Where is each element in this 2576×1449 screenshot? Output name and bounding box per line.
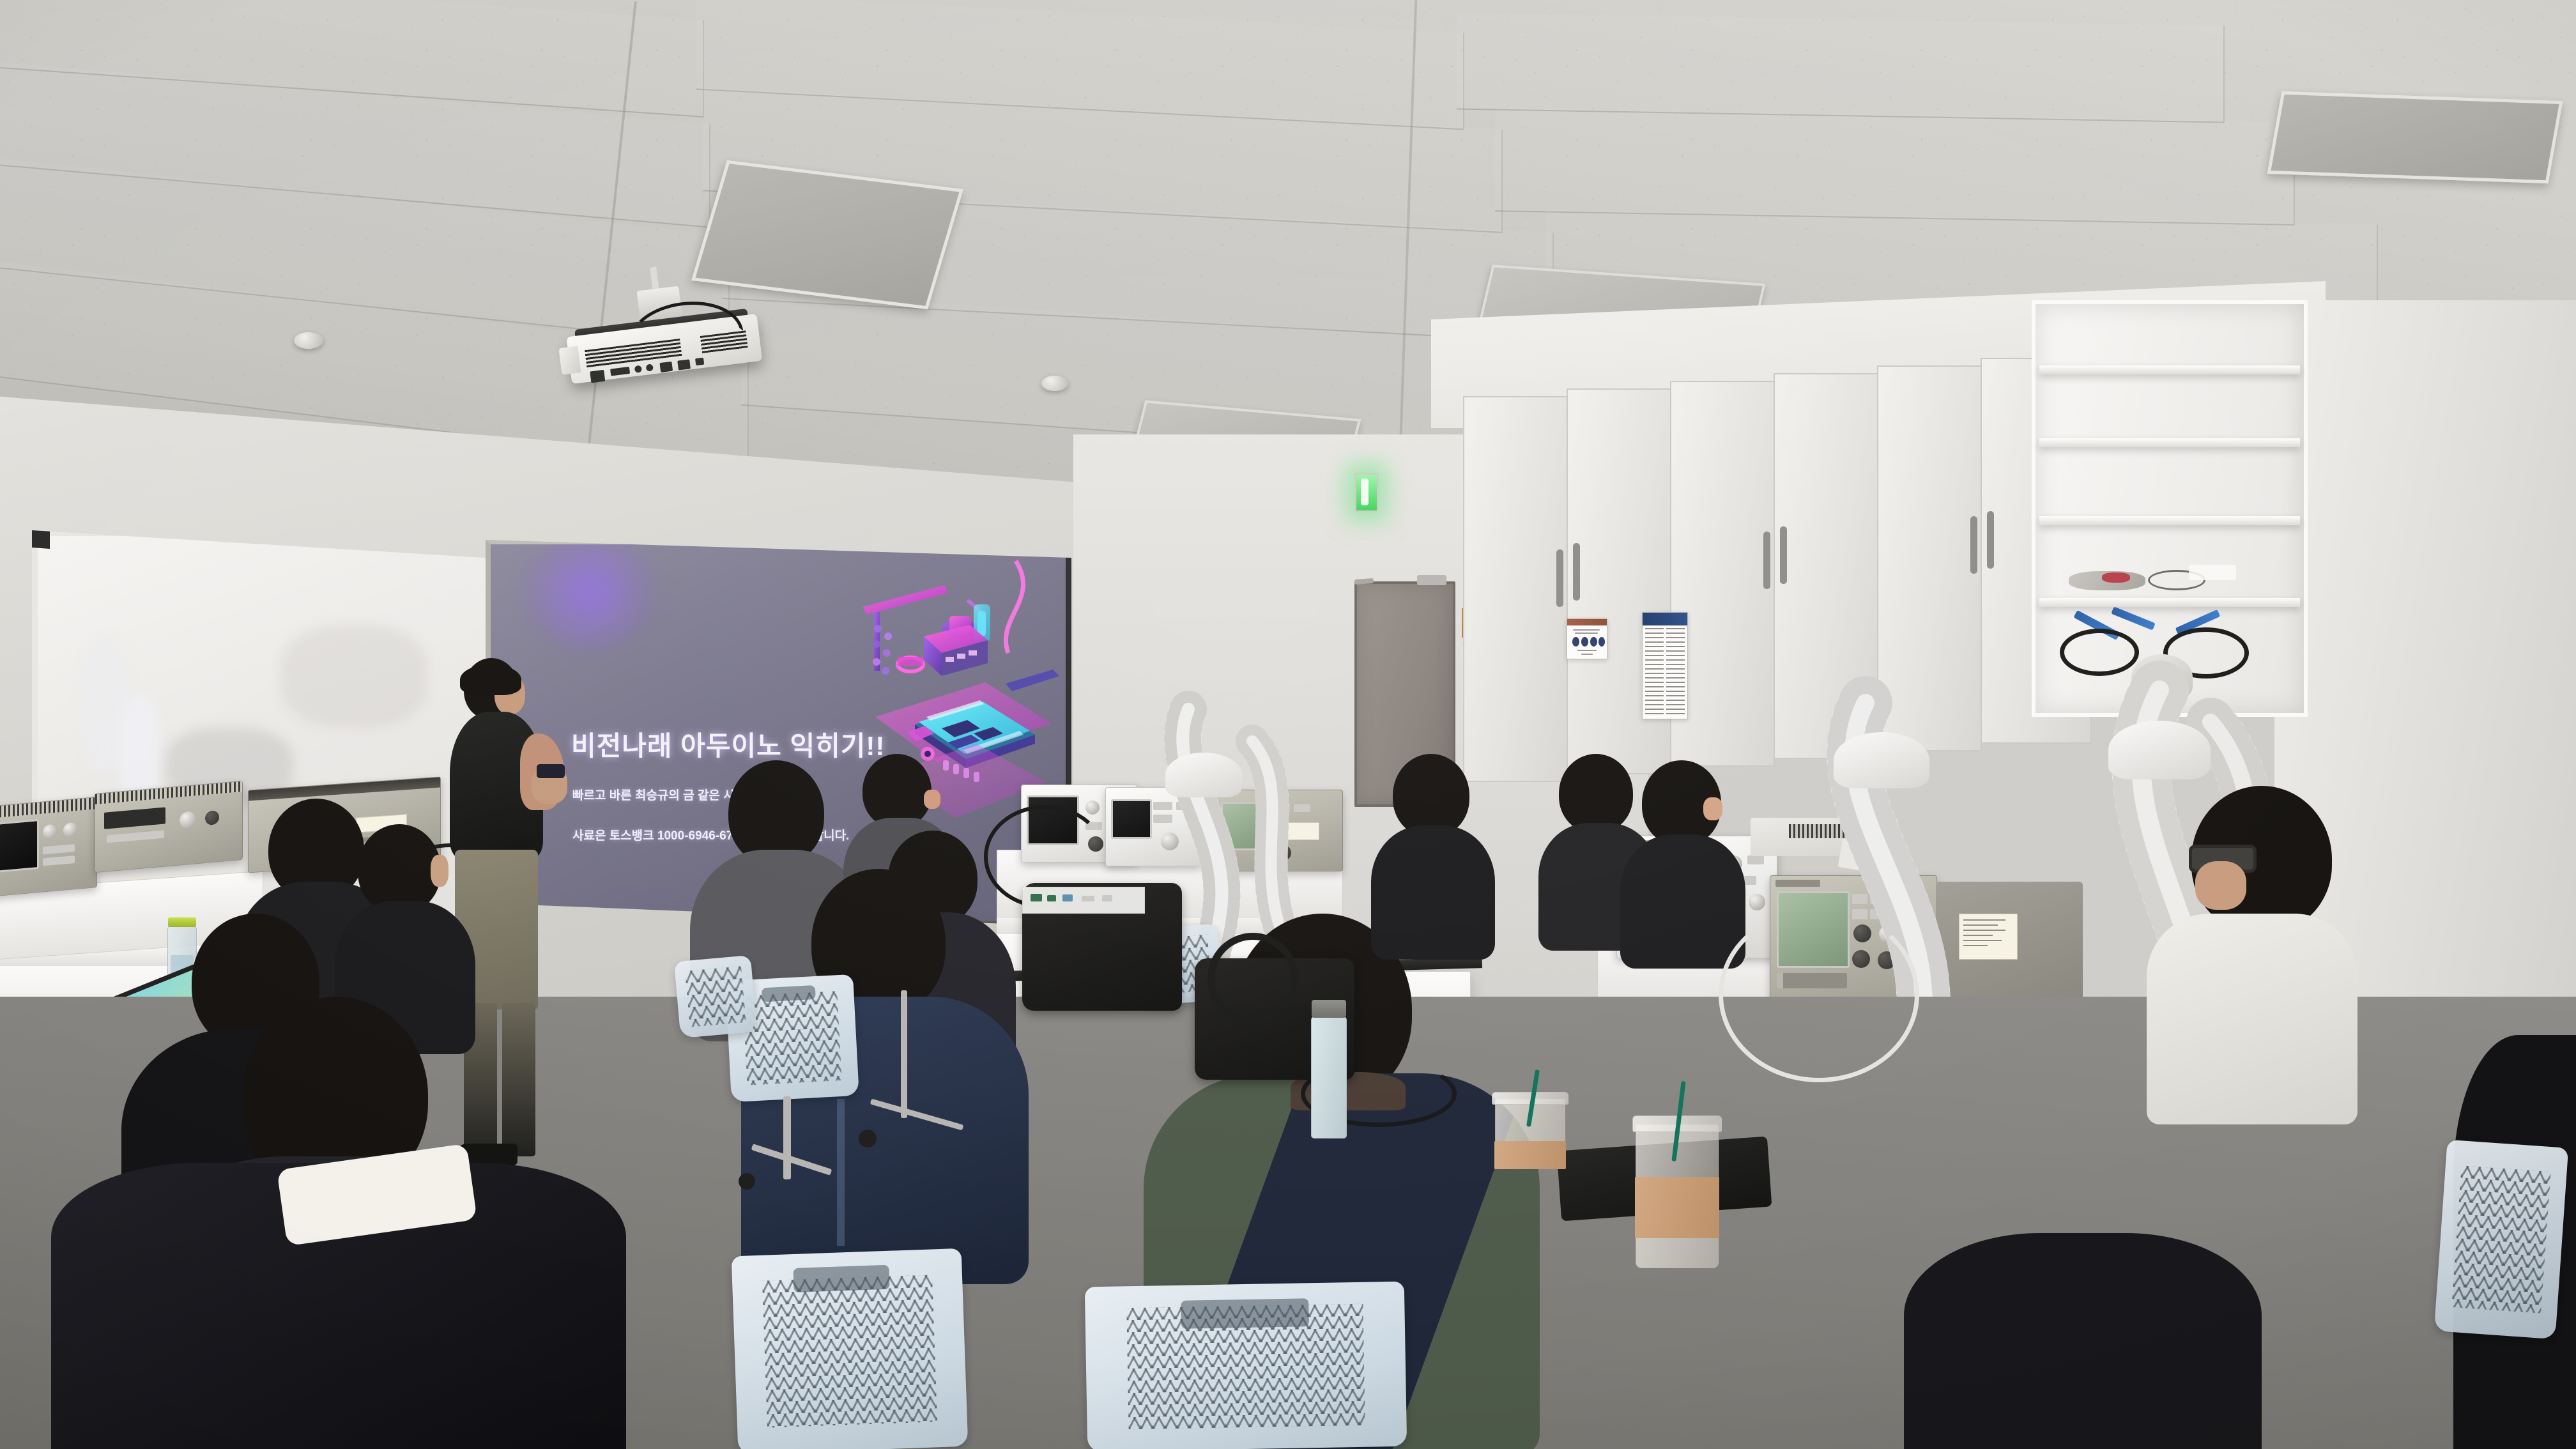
iced-coffee-cup-large[interactable] [1636, 1124, 1719, 1268]
presenter [441, 658, 588, 1188]
soldering-iron-blue[interactable] [2111, 606, 2155, 630]
generator-knob[interactable] [1161, 832, 1179, 850]
fume-hood-funnel [2131, 654, 2193, 700]
safety-warning-poster [1567, 618, 1607, 659]
fume-hood-funnel [1834, 732, 1929, 788]
psu-knob[interactable] [205, 810, 219, 825]
projector-port [677, 359, 691, 370]
projector-port [646, 364, 654, 371]
cabinet-door[interactable] [1877, 365, 1982, 751]
scope-button[interactable] [43, 855, 75, 866]
cup-sleeve [1635, 1177, 1719, 1238]
water-bottle-blue[interactable] [1311, 1016, 1347, 1138]
display-readout [104, 807, 165, 829]
presentation-clicker[interactable] [537, 764, 565, 778]
analyzer-chassis-rear [1936, 882, 2083, 1009]
cabinet-handle[interactable] [1573, 543, 1580, 601]
scope-knob[interactable] [63, 822, 77, 838]
bottle-cap [168, 917, 196, 927]
cup-sleeve [1494, 1141, 1566, 1169]
presenter-leg [502, 1003, 535, 1156]
shelf [2039, 516, 2300, 525]
power-supply-left[interactable] [95, 781, 243, 873]
presenter-hair [460, 664, 521, 695]
power-plug [1838, 839, 1881, 873]
analyzer-knob[interactable] [1276, 845, 1291, 861]
generator-screen [1111, 799, 1152, 839]
parts-tray [1022, 887, 1145, 914]
ceiling-tile [1457, 13, 2225, 123]
cabinet-handle[interactable] [1763, 532, 1770, 589]
scope-knob[interactable] [1085, 801, 1100, 815]
exit-sign-icon [1354, 473, 1379, 512]
smoke-detector-icon [1041, 376, 1068, 391]
ceiling-light-panel [2267, 91, 2563, 184]
generator-button[interactable] [1153, 802, 1172, 810]
open-shelf-unit [2032, 300, 2308, 717]
projector-lens [558, 346, 581, 374]
shelf [2039, 365, 2300, 374]
wall-cabinet-run [1463, 358, 2108, 843]
cabinet-door[interactable] [1774, 373, 1878, 759]
analyzer-crt-screen [1221, 802, 1271, 850]
slide-title: 비전나래 아두이노 익히기!! [571, 724, 885, 763]
door-closer [1417, 575, 1446, 585]
power-cable [2060, 629, 2139, 676]
door-closer-arm [1354, 578, 1374, 585]
shelf [2039, 598, 2300, 607]
bottle-cap [1312, 1000, 1346, 1018]
projector-port [590, 370, 605, 383]
projector-port [659, 362, 673, 372]
backpack-strap [1207, 933, 1298, 1023]
cabinet-handle[interactable] [1987, 511, 1994, 569]
projector-port [634, 365, 642, 373]
lab-notice-poster [1642, 612, 1688, 719]
projector-port [695, 358, 704, 366]
psu-button[interactable] [107, 831, 164, 843]
running-man-glyph [1361, 479, 1368, 505]
smoke-detector-icon [294, 332, 323, 349]
iced-coffee-cup-small[interactable] [1495, 1099, 1565, 1169]
generator-button[interactable] [1176, 802, 1195, 810]
white-power-cable [1719, 907, 1919, 1082]
cabinet-handle[interactable] [1780, 526, 1787, 584]
classroom-photo: 비전나래 아두이노 익히기!! 빠르고 바른 최승규의 금 같은 시간!!!!!… [0, 0, 2576, 1449]
oscilloscope-left[interactable] [0, 797, 97, 898]
logic-analyzer-center[interactable] [1214, 790, 1343, 871]
equipment-label [1273, 822, 1319, 840]
projector-port [610, 367, 630, 376]
fume-hood-funnel [2108, 721, 2211, 779]
brand-strip [1775, 880, 1820, 887]
plastic-bag [2189, 565, 2236, 580]
equipment-label [1959, 914, 2018, 960]
fume-hood-funnel [1165, 753, 1242, 797]
student-shirt [2147, 914, 2357, 1124]
scope-button[interactable] [1747, 855, 1764, 864]
projector-hotspot [516, 540, 663, 653]
ceiling-tile [1495, 108, 2295, 226]
poster-header [1567, 619, 1607, 625]
scope-knob[interactable] [1749, 894, 1765, 910]
psu-knob[interactable] [180, 811, 196, 829]
cabinet-handle[interactable] [1970, 516, 1977, 574]
red-cable [2102, 572, 2130, 583]
poster-header [1643, 613, 1687, 625]
cabinet-handle[interactable] [1556, 549, 1563, 607]
cabinet-door[interactable] [1463, 396, 1568, 782]
shelf [2039, 438, 2300, 447]
scope-screen [0, 819, 39, 873]
scope-button[interactable] [43, 844, 75, 854]
scope-knob[interactable] [43, 824, 57, 839]
generator-button[interactable] [1153, 815, 1172, 823]
function-generator-center[interactable] [1105, 787, 1202, 866]
